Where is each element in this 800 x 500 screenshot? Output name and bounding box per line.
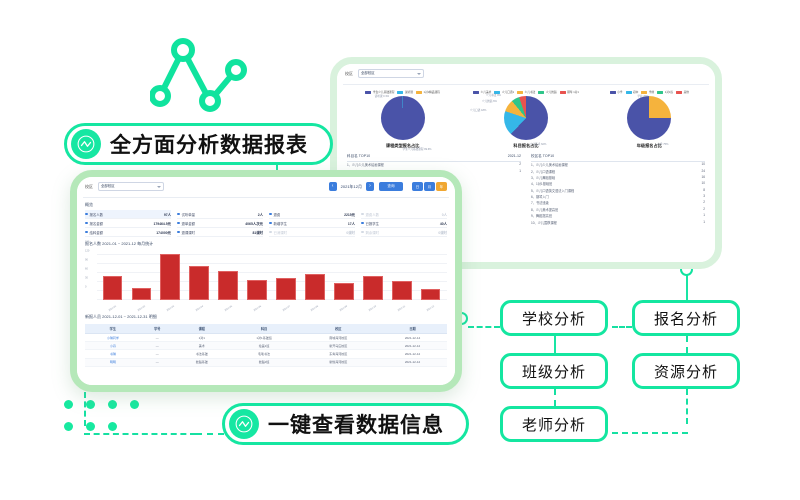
bar-column[interactable] xyxy=(329,252,358,300)
pie-slice-label: 学生少儿基础课程 99.6% xyxy=(403,147,432,151)
overview-title: 概览 xyxy=(77,198,455,210)
rank-name: 2、少儿口语课程 xyxy=(531,169,555,174)
table-cell: 南城海河校区 xyxy=(299,334,379,342)
table-title-text: 新报人员 2021-12-01 ~ 2021-12-31 明细 xyxy=(85,314,157,319)
table-cell: 明明 xyxy=(85,358,141,366)
legend-label: 钢琴 1对1 xyxy=(567,90,579,94)
rank-name: 4、1对1基础班 xyxy=(531,181,552,186)
table-cell: 2021-12-12 xyxy=(378,358,447,366)
bar-column[interactable] xyxy=(416,252,445,300)
segment-year[interactable]: 年 xyxy=(436,182,447,191)
chevron-right-icon[interactable]: › xyxy=(366,182,374,191)
rank-name: 10、少儿围棋课程 xyxy=(531,220,557,225)
detail-table: 学生 学号 课程 科目 校区 日期 小琪同学—1对11对1基础班南城海河校区20… xyxy=(85,324,447,367)
analysis-button-label: 资源分析 xyxy=(654,361,718,382)
pie-chart xyxy=(504,96,548,140)
bar-column[interactable] xyxy=(272,252,301,300)
detail-table-wrap: 学生 学号 课程 科目 校区 日期 小琪同学—1对11对1基础班南城海河校区20… xyxy=(77,322,455,367)
stats-grid: 报名人数97人 试听单量2人 退费2215元 退费人数0人 报名金额179464… xyxy=(77,210,455,237)
stat-value: 174000元 xyxy=(156,230,171,235)
table-header-cell[interactable]: 校区 xyxy=(299,324,379,334)
table-row[interactable]: 小丹—美术绘画1班新开马庄校区2021-12-12 xyxy=(85,342,447,350)
bar-column[interactable] xyxy=(214,252,243,300)
campus-filter-label: 校区 xyxy=(85,184,93,190)
bar-column[interactable] xyxy=(300,252,329,300)
stat-key: 试听单量 xyxy=(182,212,196,217)
pie-chart-row: 学生少儿基础课程 试听课 1对1精品课程 试听课 0.3% 学生少儿基础课程 9… xyxy=(337,85,715,149)
pie-slice-label: 小学 75% xyxy=(657,142,668,146)
campus-filter-value: 全部校区 xyxy=(361,71,375,76)
stat-key: 退单金额 xyxy=(182,221,196,226)
stat-item[interactable]: 已报学生40人 xyxy=(361,219,447,228)
table-cell: 1对1基础班 xyxy=(230,334,299,342)
table-cell: 毛笔书法 xyxy=(230,350,299,358)
table-header-row: 学生 学号 课程 科目 校区 日期 xyxy=(85,324,447,334)
period-segment-group: 日 月 年 xyxy=(412,182,447,191)
stat-item[interactable]: 已消课时0课时 xyxy=(269,228,355,237)
dot-grid-icon xyxy=(64,400,150,446)
bar-column[interactable] xyxy=(358,252,387,300)
stat-value: 4065人次元 xyxy=(245,221,263,226)
table-cell: 舞蹈3班 xyxy=(230,358,299,366)
campus-filter-select[interactable]: 全部校区 xyxy=(98,182,164,191)
table-cell: 新开马庄校区 xyxy=(299,342,379,350)
legend-label: 1对1班 xyxy=(665,90,673,94)
chevron-left-icon[interactable]: ‹ xyxy=(329,182,337,191)
pie-slice-label: 少儿书法 9% xyxy=(486,93,501,97)
label-pill-top: 全方面分析数据报表 xyxy=(64,123,333,165)
chart-title: 报名人数 2021-01 ~ 2021-12 每月统计 xyxy=(77,237,455,249)
stat-key: 已消课时 xyxy=(274,230,288,235)
stat-key: 结转金额 xyxy=(90,230,104,235)
bar[interactable] xyxy=(132,288,152,300)
table-row[interactable]: 小琪同学—1对11对1基础班南城海河校区2021-12-14 xyxy=(85,334,447,342)
campus-filter-select[interactable]: 全部校区 xyxy=(358,69,424,78)
pie-card: 小学 初中 学前 1对1班 其他 学前 25% 小学 75% 年级报名占比 xyxy=(591,90,707,149)
bar[interactable] xyxy=(103,276,123,300)
stat-value: 97人 xyxy=(164,212,171,217)
connector-bottom-left xyxy=(84,392,86,426)
rank-value: 2 xyxy=(703,200,705,205)
stat-key: 已报学生 xyxy=(366,221,380,226)
rank-name: 3、少儿舞蹈基础 xyxy=(531,175,555,180)
legend-item[interactable]: 少儿舞蹈 xyxy=(538,90,556,94)
table-header-cell[interactable]: 日期 xyxy=(378,324,447,334)
bar[interactable] xyxy=(363,276,383,300)
stat-item[interactable]: 剩余课时0课时 xyxy=(361,228,447,237)
infographic-stage: 校区 全部校区 学生少儿基础课程 试听课 1对1精品课程 试听课 0.3% xyxy=(0,0,800,500)
stat-item[interactable]: 退费2215元 xyxy=(269,210,355,219)
table-cell: 美术 xyxy=(174,342,230,350)
table-row[interactable]: 书琪—书法基础毛笔书法东青海河校区2021-12-12 xyxy=(85,350,447,358)
legend-item[interactable]: 1对1精品课程 xyxy=(416,90,440,94)
stat-item[interactable]: 退费人数0人 xyxy=(361,210,447,219)
table-cell: — xyxy=(141,358,174,366)
table-body: 小琪同学—1对11对1基础班南城海河校区2021-12-14小丹—美术绘画1班新… xyxy=(85,334,447,367)
date-value: 2021年12月 xyxy=(339,184,364,190)
analysis-button-school[interactable]: 学校分析 xyxy=(500,300,608,336)
connector-bottom-pill xyxy=(196,433,224,435)
connector-resource-down xyxy=(686,389,688,424)
stat-value: 0课时 xyxy=(346,230,355,235)
pie-slice-label: 试听课 0.3% xyxy=(375,94,389,98)
stat-key: 剩余课时 xyxy=(366,230,380,235)
rank-name: 1、少儿少儿美术绘画课程 xyxy=(531,162,568,167)
bar-column[interactable] xyxy=(98,252,127,300)
y-tick-label: 150 xyxy=(85,241,89,244)
rank-value: 1 xyxy=(703,220,705,225)
date-navigator: ‹ 2021年12月 › xyxy=(329,182,374,191)
analysis-button-class[interactable]: 班级分析 xyxy=(500,353,608,389)
x-axis-labels: 2021-012021-022021-032021-042021-052021-… xyxy=(98,307,445,310)
pie-slice-label: 少儿美术 62% xyxy=(530,142,546,146)
legend-label: 其他 xyxy=(684,90,689,94)
top-toolbar: 校区 全部校区 xyxy=(337,64,715,82)
stat-value: 17人 xyxy=(348,221,355,226)
table-cell: — xyxy=(141,342,174,350)
table-cell: 1对1 xyxy=(174,334,230,342)
pie-slice-label: 少儿舞蹈 6% xyxy=(482,99,497,103)
table-cell: — xyxy=(141,350,174,358)
rank-name: 9、舞蹈提高班 xyxy=(531,213,552,218)
dashboard-panel-bottom: 校区 全部校区 ‹ 2021年12月 › 查询 日 月 年 xyxy=(70,170,462,392)
table-header-cell[interactable]: 学生 xyxy=(85,324,141,334)
campus-filter-value: 全部校区 xyxy=(101,184,115,189)
rank-value: 8 xyxy=(703,188,705,193)
rank-header: 科目名 TOP10 2021-12 xyxy=(347,154,521,162)
rank-value: 2 xyxy=(519,162,521,167)
legend-item[interactable]: 试听课 xyxy=(397,90,413,94)
bar[interactable] xyxy=(218,271,238,300)
stat-key: 退费 xyxy=(274,212,281,217)
rank-value: 10 xyxy=(701,181,705,186)
connector-bottom-line xyxy=(84,433,196,435)
table-cell: 小琪同学 xyxy=(85,334,141,342)
bar[interactable] xyxy=(160,254,180,300)
stat-item[interactable]: 报名人数97人 xyxy=(85,210,171,219)
bottom-toolbar: 校区 全部校区 ‹ 2021年12月 › 查询 日 月 年 xyxy=(77,177,455,195)
legend-label: 少儿口语1 xyxy=(502,90,514,94)
bar[interactable] xyxy=(392,281,412,300)
bar-column[interactable] xyxy=(387,252,416,300)
rank-value: 24 xyxy=(701,169,705,174)
table-cell: 2021-12-12 xyxy=(378,350,447,358)
stat-key: 报名人数 xyxy=(90,212,104,217)
bar[interactable] xyxy=(334,283,354,300)
legend-label: 学前 xyxy=(649,90,654,94)
connector-class-teacher xyxy=(554,389,556,406)
rank-list-right: 校区名 TOP10 1、少儿少儿美术绘画课程10 2、少儿口语课程24 3、少儿… xyxy=(531,154,705,225)
label-pill-bottom-text: 一键查看数据信息 xyxy=(268,409,444,439)
query-button[interactable]: 查询 xyxy=(379,182,403,191)
stat-value: 0课时 xyxy=(438,230,447,235)
rank-name: 6、钢琴入门 xyxy=(531,194,549,199)
analysis-button-teacher[interactable]: 老师分析 xyxy=(500,406,608,442)
table-cell: 绘画1班 xyxy=(230,342,299,350)
rank-value: 1 xyxy=(519,169,521,174)
stat-value: 0人 xyxy=(442,212,447,217)
bar-series xyxy=(98,252,445,300)
legend-item[interactable]: 其他 xyxy=(676,90,689,94)
legend-item[interactable]: 钢琴 1对1 xyxy=(560,90,579,94)
connector-school-signup xyxy=(612,326,632,328)
table-header-cell[interactable]: 科目 xyxy=(230,324,299,334)
rank-value: 3 xyxy=(703,194,705,199)
connector-to-school xyxy=(468,326,500,328)
bar-column[interactable] xyxy=(185,252,214,300)
rank-title: 校区名 TOP10 xyxy=(531,154,554,159)
legend-label: 小学 xyxy=(617,90,622,94)
bar[interactable] xyxy=(305,274,325,300)
stat-item[interactable]: 退单金额4065人次元 xyxy=(177,219,263,228)
rank-value: 1 xyxy=(703,213,705,218)
bar-chart-box: 0306090120150 2021-012021-022021-032021-… xyxy=(77,249,455,310)
table-cell: 2021-12-12 xyxy=(378,342,447,350)
analysis-button-label: 班级分析 xyxy=(522,361,586,382)
pie-slice-label: 少儿口语 18% xyxy=(470,108,486,112)
analysis-button-label: 学校分析 xyxy=(522,308,586,329)
rank-period: 2021-12 xyxy=(508,154,521,159)
pie-chart xyxy=(627,96,671,140)
rank-row[interactable]: 10、少儿围棋课程1 xyxy=(531,219,705,225)
legend-label: 少儿书法 xyxy=(525,90,536,94)
pie-chart xyxy=(381,96,425,140)
stat-item[interactable]: 新增学生17人 xyxy=(269,219,355,228)
wave-chart-icon xyxy=(229,409,259,439)
rank-name: 8、少儿美术提高班 xyxy=(531,207,558,212)
bar[interactable] xyxy=(247,280,267,300)
connector-signup-resource xyxy=(686,336,688,353)
table-cell: 舞蹈基础 xyxy=(174,358,230,366)
pie-card: 少儿美术 少儿口语1 少儿书法 少儿舞蹈 钢琴 1对1 少儿书法 9% 少儿舞蹈… xyxy=(468,90,584,149)
table-cell: 小丹 xyxy=(85,342,141,350)
connector-teacher-resource xyxy=(612,432,688,434)
stat-value: 40人 xyxy=(440,221,447,226)
stat-key: 退课课时 xyxy=(182,230,196,235)
chevron-down-icon xyxy=(157,186,161,188)
stat-item[interactable]: 试听单量2人 xyxy=(177,210,263,219)
analysis-button-label: 老师分析 xyxy=(522,414,586,435)
table-cell: 新悦海河校区 xyxy=(299,358,379,366)
bar-chart: 0306090120150 2021-012021-022021-032021-… xyxy=(85,252,447,310)
rank-header: 校区名 TOP10 xyxy=(531,154,705,162)
legend-item[interactable]: 少儿书法 xyxy=(517,90,535,94)
bar-column[interactable] xyxy=(156,252,185,300)
rank-name: 7、书法班级 xyxy=(531,200,549,205)
table-header-cell[interactable]: 学号 xyxy=(141,324,174,334)
bar-column[interactable] xyxy=(243,252,272,300)
rank-value: 16 xyxy=(701,175,705,180)
analysis-button-signup[interactable]: 报名分析 xyxy=(632,300,740,336)
rank-name: 5、少儿口语英文语法入门课程 xyxy=(531,188,574,193)
legend-label: 1对1精品课程 xyxy=(423,90,439,94)
stat-key: 退费人数 xyxy=(366,212,380,217)
stat-item[interactable]: 退课课时81课时 xyxy=(177,228,263,237)
table-cell: — xyxy=(141,334,174,342)
bar[interactable] xyxy=(189,266,209,300)
stat-value: 2215元 xyxy=(344,212,355,217)
legend-label: 少儿舞蹈 xyxy=(546,90,557,94)
pie-legend: 小学 初中 学前 1对1班 其他 xyxy=(610,90,689,94)
chevron-down-icon xyxy=(417,73,421,75)
rank-name: 1、少儿少儿美术绘画课程 xyxy=(347,162,384,167)
pie-card: 学生少儿基础课程 试听课 1对1精品课程 试听课 0.3% 学生少儿基础课程 9… xyxy=(345,90,461,149)
stat-key: 新增学生 xyxy=(274,221,288,226)
table-header-cell[interactable]: 课程 xyxy=(174,324,230,334)
bar[interactable] xyxy=(421,289,441,300)
connector-school-class xyxy=(554,336,556,353)
analysis-button-resource[interactable]: 资源分析 xyxy=(632,353,740,389)
rank-value: 2 xyxy=(703,207,705,212)
rank-title: 科目名 TOP10 xyxy=(347,154,370,159)
bar[interactable] xyxy=(276,278,296,300)
stat-item[interactable]: 报名金额179464.5元 xyxy=(85,219,171,228)
table-cell: 书琪 xyxy=(85,350,141,358)
table-cell: 2021-12-14 xyxy=(378,334,447,342)
wave-chart-icon xyxy=(71,129,101,159)
table-cell: 东青海河校区 xyxy=(299,350,379,358)
stat-value: 2人 xyxy=(258,212,263,217)
bar-column[interactable] xyxy=(127,252,156,300)
dashboard-screen-bottom: 校区 全部校区 ‹ 2021年12月 › 查询 日 月 年 xyxy=(77,177,455,385)
pie-slice-label: 学前 25% xyxy=(637,94,648,98)
table-cell: 书法基础 xyxy=(174,350,230,358)
segment-day[interactable]: 日 xyxy=(412,182,423,191)
table-row[interactable]: 明明—舞蹈基础舞蹈3班新悦海河校区2021-12-12 xyxy=(85,358,447,366)
legend-item[interactable]: 小学 xyxy=(610,90,623,94)
label-pill-bottom: 一键查看数据信息 xyxy=(222,403,469,445)
legend-label: 试听课 xyxy=(405,90,413,94)
segment-month[interactable]: 月 xyxy=(424,182,435,191)
stat-key: 报名金额 xyxy=(90,221,104,226)
label-pill-top-text: 全方面分析数据报表 xyxy=(110,129,308,159)
stat-item[interactable]: 结转金额174000元 xyxy=(85,228,171,237)
campus-filter-label: 校区 xyxy=(345,71,353,77)
rank-value: 10 xyxy=(701,162,705,167)
analysis-button-label: 报名分析 xyxy=(654,308,718,329)
legend-item[interactable]: 1对1班 xyxy=(657,90,673,94)
line-chart-nodes-icon xyxy=(150,28,250,113)
stat-value: 179464.5元 xyxy=(153,221,171,226)
stat-value: 81课时 xyxy=(252,230,263,235)
